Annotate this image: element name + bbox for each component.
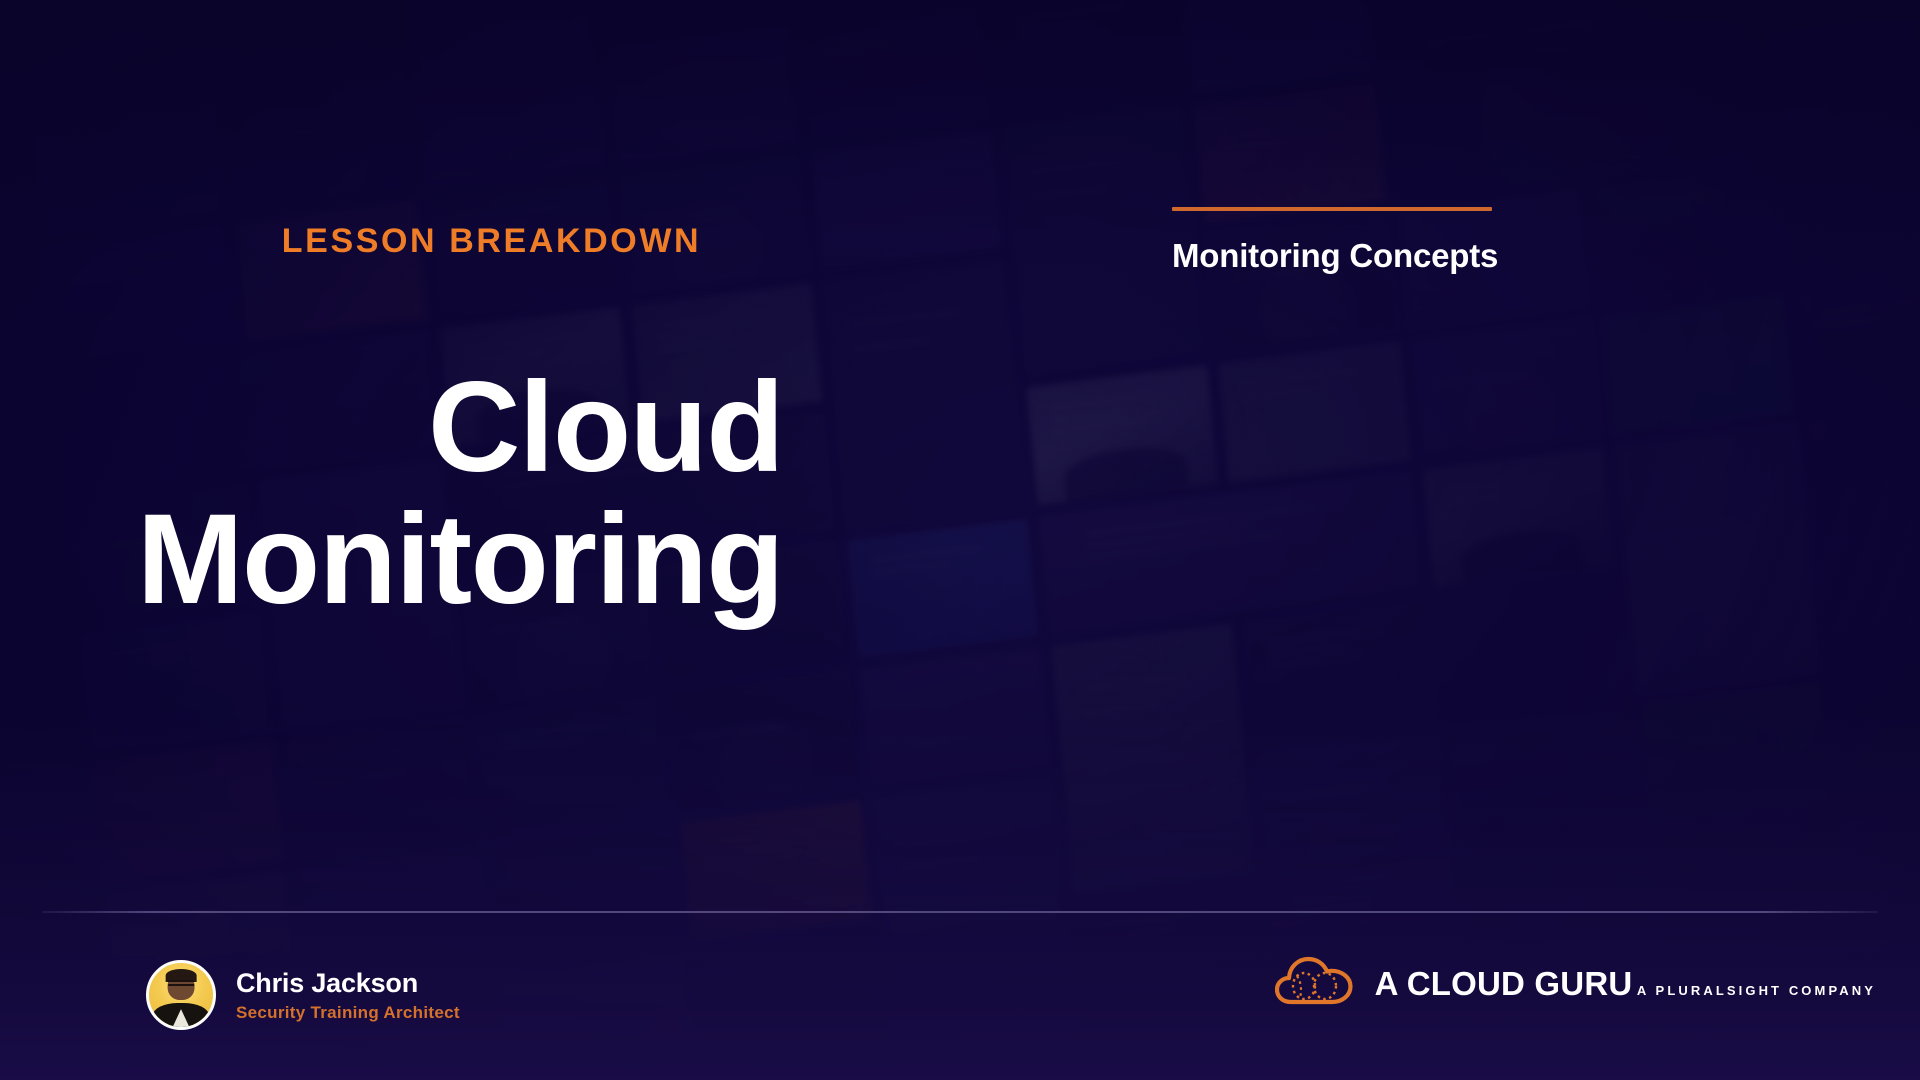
presenter-role: Security Training Architect	[236, 1003, 460, 1023]
brand-text: A CLOUD GURU A PLURALSIGHT COMPANY	[1375, 965, 1876, 1003]
glasses-icon	[168, 980, 194, 986]
brand-name: A CLOUD GURU	[1375, 965, 1633, 1002]
page-title: Cloud Monitoring	[0, 362, 783, 626]
eyebrow-label: LESSON BREAKDOWN	[0, 222, 983, 261]
footer-divider	[42, 911, 1878, 913]
section-label: Monitoring Concepts	[1172, 237, 1672, 275]
section-block: Monitoring Concepts	[1172, 207, 1672, 275]
page-title-line-2: Monitoring	[0, 494, 783, 626]
lesson-breakdown-slide: LESSON BREAKDOWN Cloud Monitoring Monito…	[0, 0, 1920, 1080]
presenter-text: Chris Jackson Security Training Architec…	[236, 968, 460, 1023]
section-accent-rule	[1172, 207, 1492, 211]
cloud-guru-logo-icon	[1275, 952, 1353, 1015]
brand-tagline: A PLURALSIGHT COMPANY	[1637, 983, 1876, 998]
presenter-block: Chris Jackson Security Training Architec…	[146, 960, 460, 1030]
brand-lockup: A CLOUD GURU A PLURALSIGHT COMPANY	[1275, 952, 1876, 1015]
avatar	[146, 960, 216, 1030]
page-title-line-1: Cloud	[428, 356, 783, 499]
slide-content: LESSON BREAKDOWN Cloud Monitoring Monito…	[0, 0, 1920, 1080]
presenter-name: Chris Jackson	[236, 968, 460, 999]
